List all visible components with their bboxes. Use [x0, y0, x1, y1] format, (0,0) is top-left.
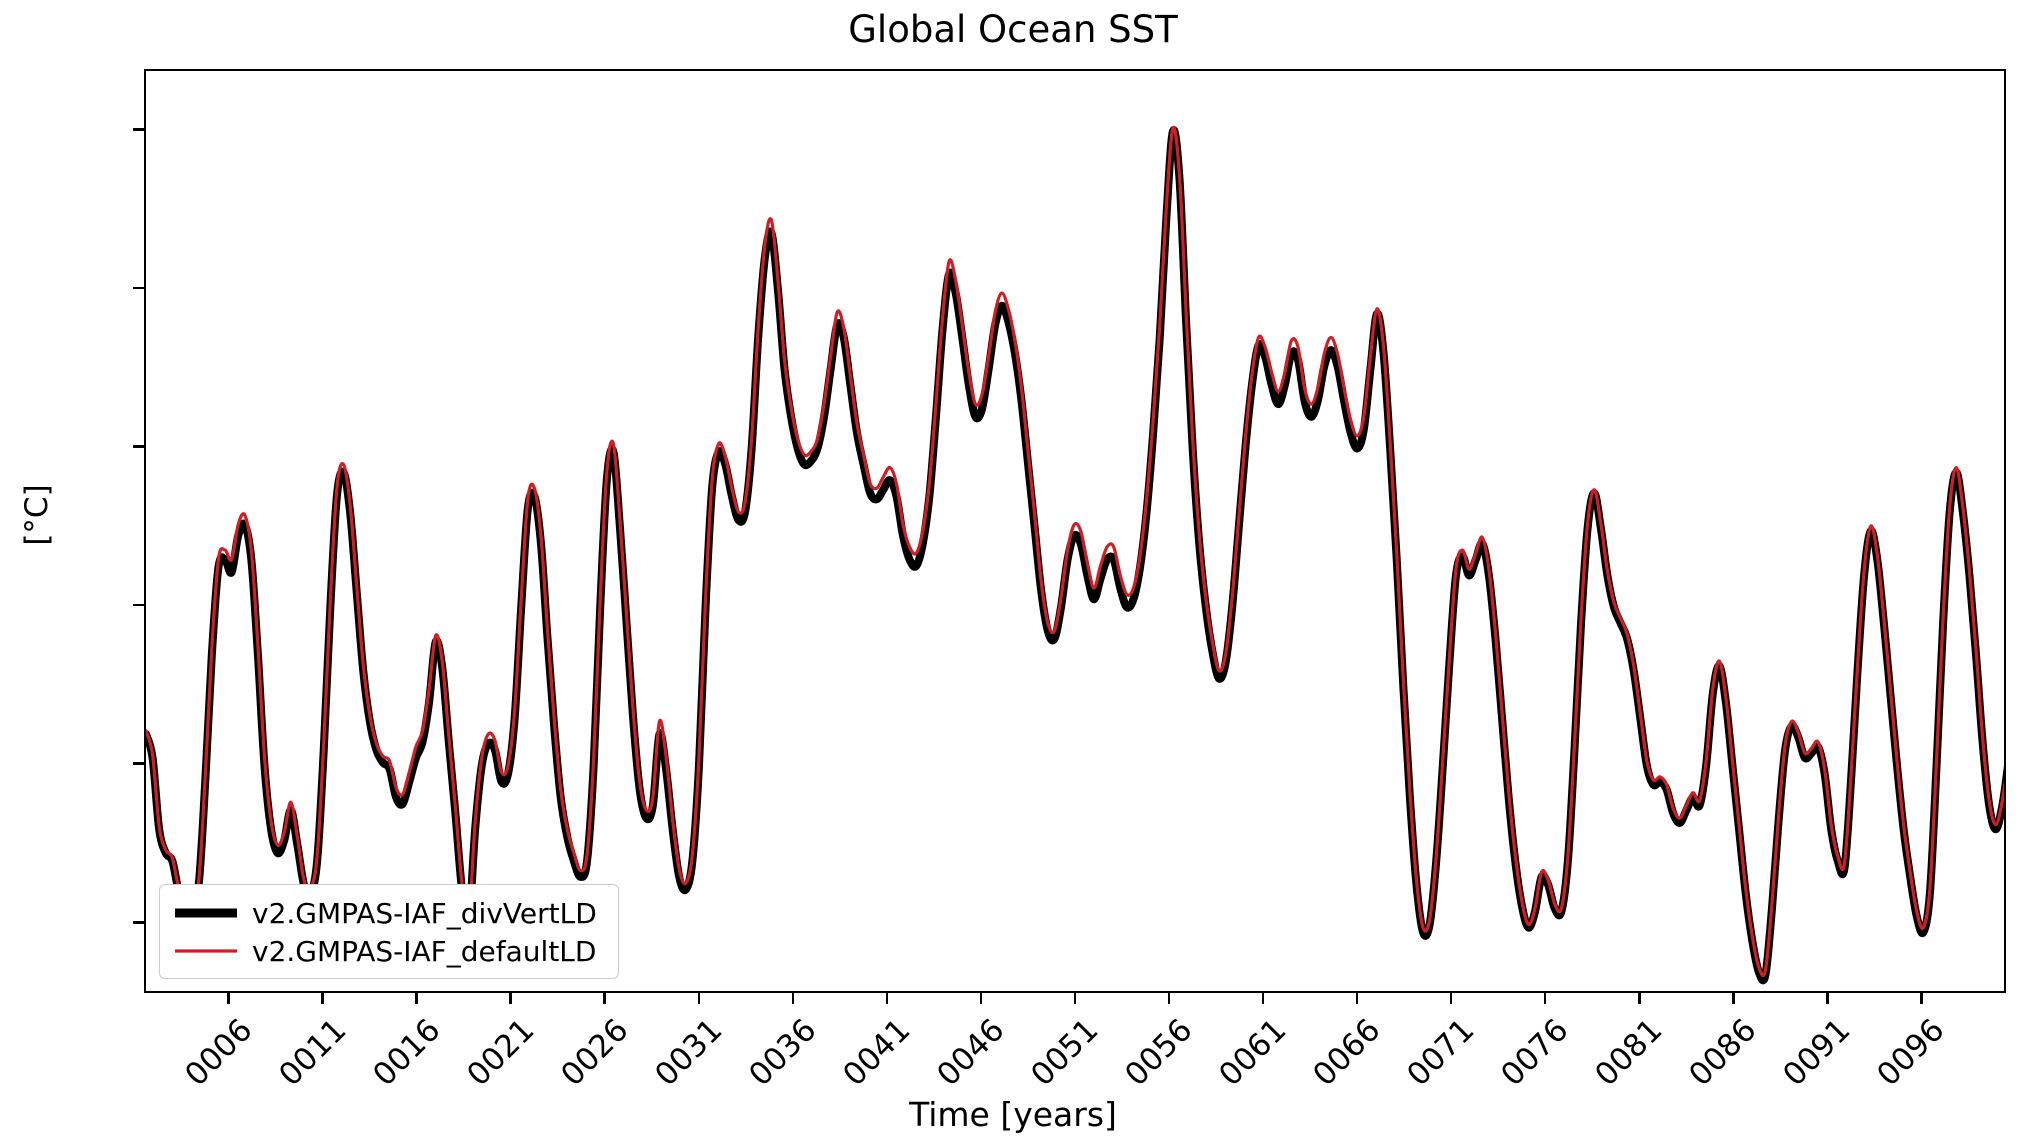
page-title: Global Ocean SST — [0, 8, 2026, 51]
y-tick-mark — [133, 762, 144, 765]
legend-label-divvertld: v2.GMPAS-IAF_divVertLD — [252, 897, 597, 930]
figure-canvas: Global Ocean SST [°C] 18.118.218.318.418… — [0, 0, 2026, 1137]
x-tick-mark — [1262, 993, 1265, 1004]
legend-item-divvertld[interactable]: v2.GMPAS-IAF_divVertLD — [174, 894, 604, 932]
x-tick-mark — [603, 993, 606, 1004]
y-axis-label: [°C] — [19, 445, 55, 585]
y-tick-mark — [133, 921, 144, 924]
legend-line-divvertld — [174, 906, 238, 920]
plot-svg — [146, 71, 2006, 993]
x-tick-mark — [1074, 993, 1077, 1004]
x-tick-mark — [227, 993, 230, 1004]
x-tick-mark — [698, 993, 701, 1004]
y-tick-mark — [133, 128, 144, 131]
series-line-divvertld — [146, 130, 2006, 980]
x-tick-mark — [321, 993, 324, 1004]
x-tick-mark — [1356, 993, 1359, 1004]
legend-swatch-defaultld — [174, 944, 238, 958]
x-tick-mark — [980, 993, 983, 1004]
legend: v2.GMPAS-IAF_divVertLD v2.GMPAS-IAF_defa… — [159, 884, 619, 979]
x-tick-mark — [415, 993, 418, 1004]
plot-area — [144, 69, 2006, 993]
legend-item-defaultld[interactable]: v2.GMPAS-IAF_defaultLD — [174, 932, 604, 970]
y-tick-mark — [133, 287, 144, 290]
x-tick-mark — [1168, 993, 1171, 1004]
x-tick-mark — [886, 993, 889, 1004]
x-tick-mark — [1826, 993, 1829, 1004]
x-axis-label: Time [years] — [0, 1095, 2026, 1134]
x-tick-mark — [1450, 993, 1453, 1004]
x-tick-mark — [1544, 993, 1547, 1004]
x-tick-mark — [509, 993, 512, 1004]
y-tick-mark — [133, 604, 144, 607]
x-tick-mark — [792, 993, 795, 1004]
legend-line-defaultld — [174, 944, 238, 958]
series-line-defaultld — [146, 127, 2006, 975]
x-tick-mark — [1638, 993, 1641, 1004]
legend-label-defaultld: v2.GMPAS-IAF_defaultLD — [252, 935, 596, 968]
x-tick-mark — [1920, 993, 1923, 1004]
x-tick-mark — [1732, 993, 1735, 1004]
y-tick-mark — [133, 445, 144, 448]
legend-swatch-divvertld — [174, 906, 238, 920]
